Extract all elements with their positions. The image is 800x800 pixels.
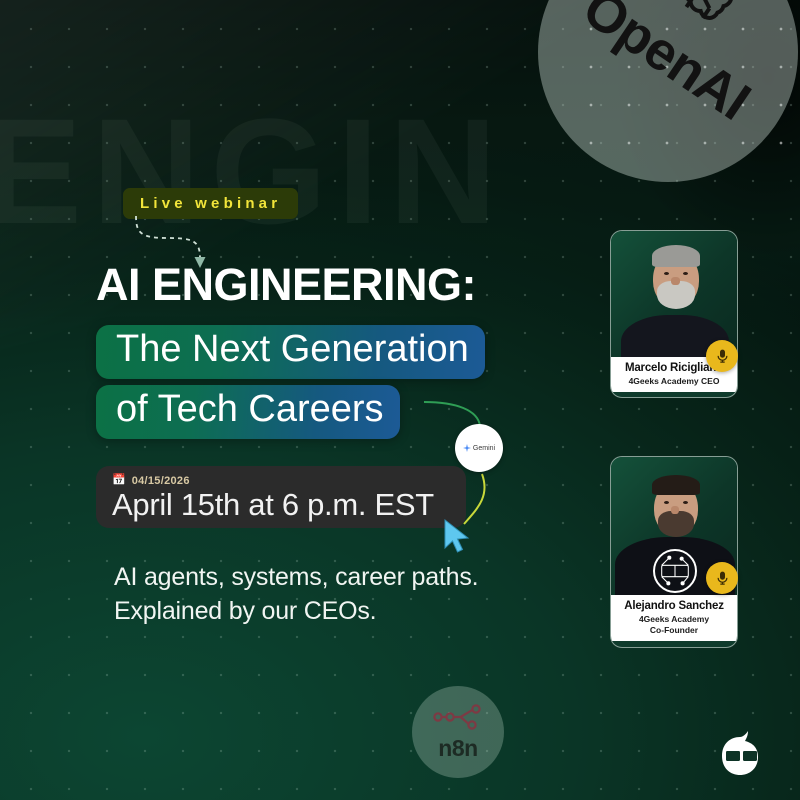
speaker-name: Alejandro Sanchez	[613, 600, 735, 613]
microphone-icon	[706, 340, 738, 372]
speaker-role-line-2: Co-Founder	[613, 625, 735, 635]
speaker-card-alejandro[interactable]: Alejandro Sanchez 4Geeks Academy Co-Foun…	[610, 456, 738, 648]
tshirt-graphic	[653, 549, 697, 593]
n8n-node-graph-icon	[432, 703, 484, 736]
date-card: 📅 04/15/2026 April 15th at 6 p.m. EST	[96, 466, 466, 528]
description-line-2: Explained by our CEOs.	[114, 594, 544, 628]
speaker-photo	[611, 231, 737, 357]
speaker-role-line-1: 4Geeks Academy	[613, 614, 735, 624]
microphone-icon	[706, 562, 738, 594]
mouse-cursor-icon	[443, 518, 473, 561]
speaker-label: Alejandro Sanchez 4Geeks Academy Co-Foun…	[611, 595, 737, 641]
speaker-card-marcelo[interactable]: Marcelo Ricigliano 4Geeks Academy CEO	[610, 230, 738, 398]
speaker-role: 4Geeks Academy CEO	[613, 376, 735, 386]
date-long: April 15th at 6 p.m. EST	[112, 487, 466, 523]
gemini-label: Gemini	[473, 445, 495, 452]
page-title: AI ENGINEERING:	[96, 262, 656, 307]
description-text: AI agents, systems, career paths. Explai…	[114, 560, 544, 629]
webinar-promo-poster: ENGIN OpenAI Live webinar AI ENGINEERING…	[0, 0, 800, 800]
openai-wordmark: OpenAI	[572, 0, 761, 132]
subtitle-band-2: of Tech Careers	[96, 385, 400, 439]
4geeks-robot-head-icon	[712, 730, 768, 787]
description-line-1: AI agents, systems, career paths.	[114, 560, 544, 594]
date-card-header: 📅 04/15/2026	[112, 473, 466, 488]
n8n-badge: n8n	[412, 686, 504, 778]
subtitle-band-1: The Next Generation	[96, 325, 485, 379]
date-short: 04/15/2026	[132, 475, 190, 487]
gemini-sparkle-icon	[463, 439, 471, 457]
calendar-icon: 📅	[112, 475, 126, 486]
n8n-wordmark: n8n	[438, 735, 477, 762]
gemini-node: Gemini	[455, 424, 503, 472]
